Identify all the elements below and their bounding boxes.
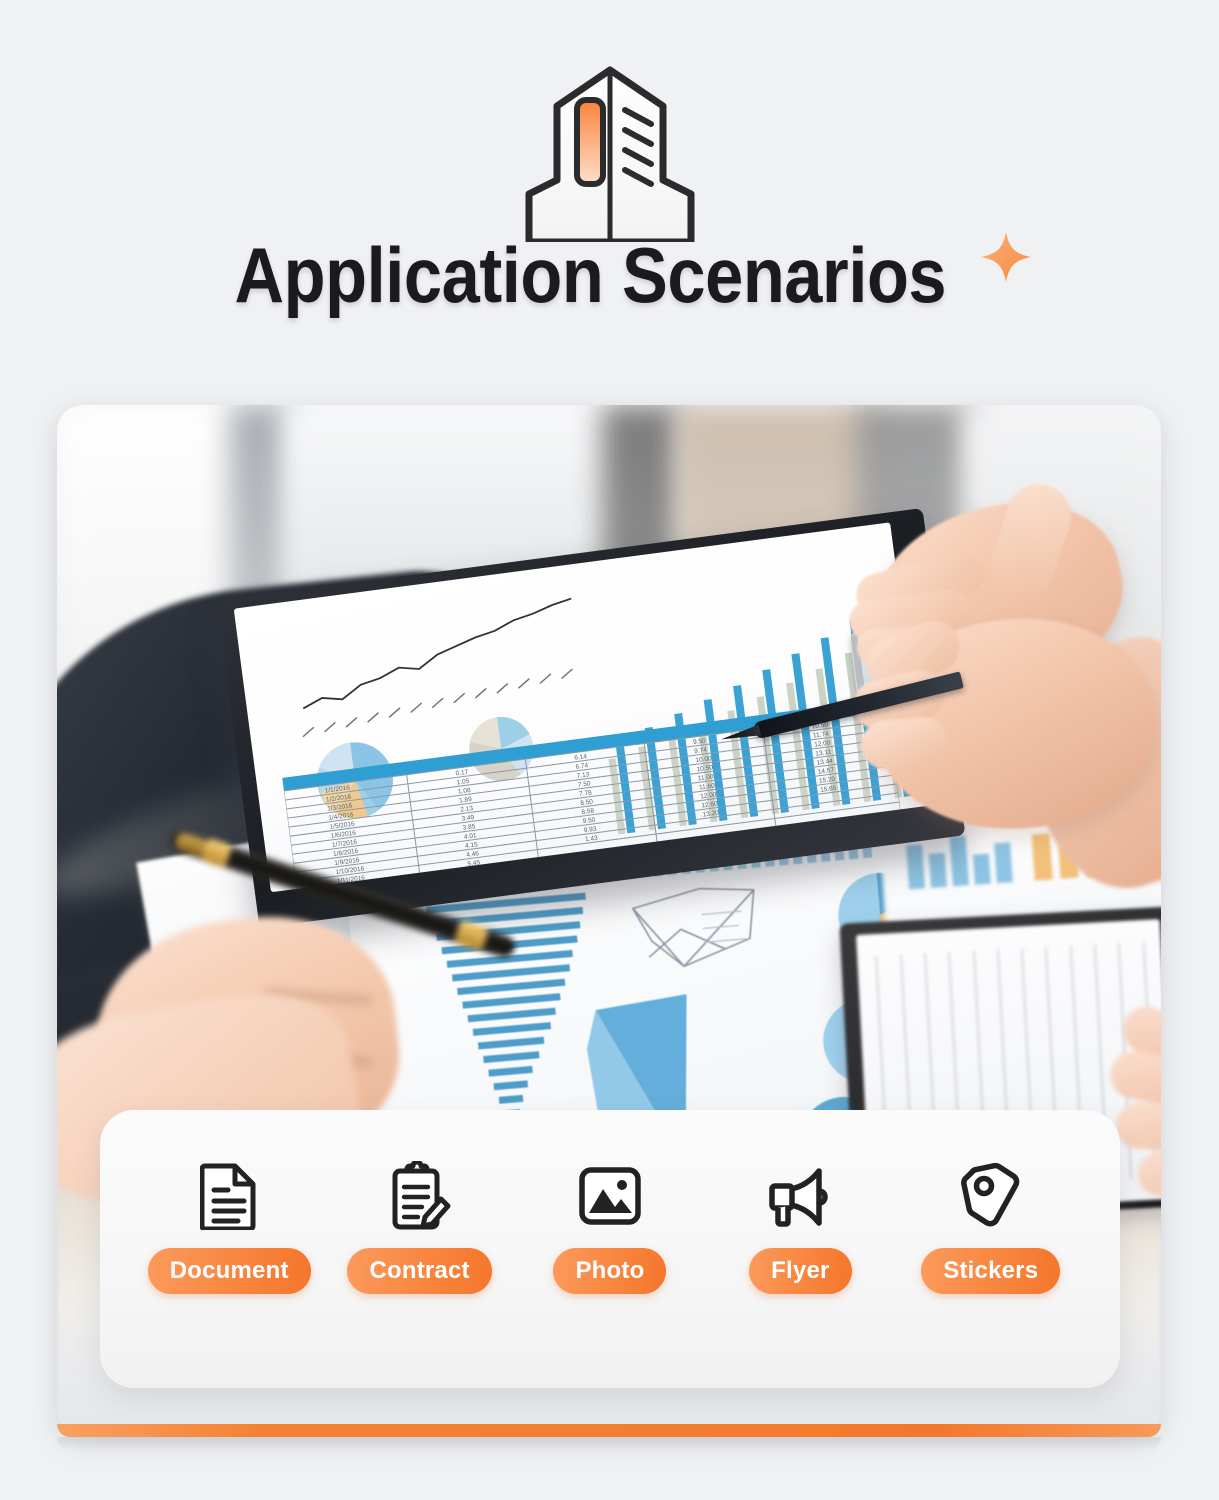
page-title-row: Application Scenarios (0, 236, 1219, 314)
badge-label-flyer: Flyer (749, 1248, 851, 1294)
sparkle-icon (979, 230, 1033, 284)
badge-label-photo: Photo (553, 1248, 666, 1294)
application-badges-panel: Document Con (100, 1110, 1120, 1388)
hand-with-pen (757, 601, 1161, 901)
badge-label-contract: Contract (347, 1248, 491, 1294)
photo-icon (573, 1158, 647, 1234)
megaphone-icon (763, 1158, 837, 1234)
document-icon (192, 1158, 266, 1234)
tag-icon (954, 1158, 1028, 1234)
badge-row: Document Con (100, 1158, 1120, 1294)
accent-strip-shadow (57, 1437, 1161, 1451)
application-scenarios-page: Application Scenarios (0, 0, 1219, 1500)
badge-flyer[interactable]: Flyer (709, 1158, 891, 1294)
building-logo-icon (495, 62, 725, 242)
orange-accent-strip (57, 1424, 1161, 1437)
page-title: Application Scenarios (235, 236, 947, 314)
contract-icon (383, 1158, 457, 1234)
badge-label-document: Document (148, 1248, 311, 1294)
badge-document[interactable]: Document (138, 1158, 320, 1294)
badge-contract[interactable]: Contract (329, 1158, 511, 1294)
badge-photo[interactable]: Photo (519, 1158, 701, 1294)
badge-label-stickers: Stickers (921, 1248, 1060, 1294)
page-header: Application Scenarios (0, 0, 1219, 395)
badge-stickers[interactable]: Stickers (900, 1158, 1082, 1294)
